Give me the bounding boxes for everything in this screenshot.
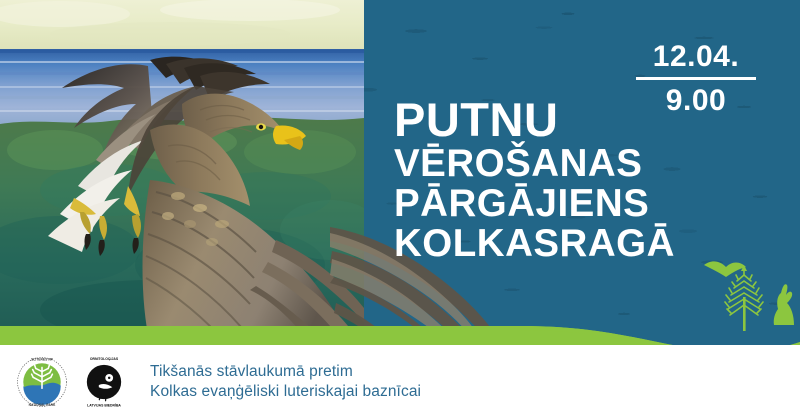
headline-line-2: VĒROŠANAS <box>394 144 675 184</box>
svg-text:ORNITOLOĢIJAS: ORNITOLOĢIJAS <box>90 357 119 361</box>
flying-bird-icon <box>704 261 746 277</box>
landscape-silhouettes <box>690 255 800 345</box>
svg-text:SLĪTERES NP: SLĪTERES NP <box>31 358 54 362</box>
slitere-national-park-logo: SLĪTERES NP NATIONAL PARK <box>16 356 68 408</box>
pine-tree-icon <box>725 265 763 331</box>
svg-text:NATIONAL PARK: NATIONAL PARK <box>29 403 56 407</box>
page-title: PUTNU VĒROŠANAS PĀRGĀJIENS KOLKASRAGĀ <box>394 96 675 264</box>
hare-icon <box>774 284 794 325</box>
svg-text:LATVIJAS BIEDRĪBA: LATVIJAS BIEDRĪBA <box>87 403 121 407</box>
meeting-info-line-1: Tikšanās stāvlaukumā pretim <box>150 362 421 382</box>
headline-line-1: PUTNU <box>394 96 675 144</box>
date-divider-rule <box>636 77 756 80</box>
footer-bar: SLĪTERES NP NATIONAL PARK O <box>0 345 800 419</box>
meeting-info-line-2: Kolkas evaņģēliski luteriskajai baznīcai <box>150 382 421 402</box>
event-date: 12.04. <box>632 40 760 74</box>
poster: 12.04. 9.00 PUTNU VĒROŠANAS PĀRGĀJIENS K… <box>0 0 800 419</box>
eagle-illustration-artwork <box>0 0 364 345</box>
meeting-info: Tikšanās stāvlaukumā pretim Kolkas evaņģ… <box>150 362 421 402</box>
organisation-logos: SLĪTERES NP NATIONAL PARK O <box>16 356 130 408</box>
headline-line-3: PĀRGĀJIENS <box>394 184 675 224</box>
headline-line-4: KOLKASRAGĀ <box>394 224 675 264</box>
eagle-illustration <box>0 0 364 345</box>
latvian-ornithological-society-logo: ORNITOLOĢIJAS LATVIJAS BIEDRĪBA <box>78 356 130 408</box>
